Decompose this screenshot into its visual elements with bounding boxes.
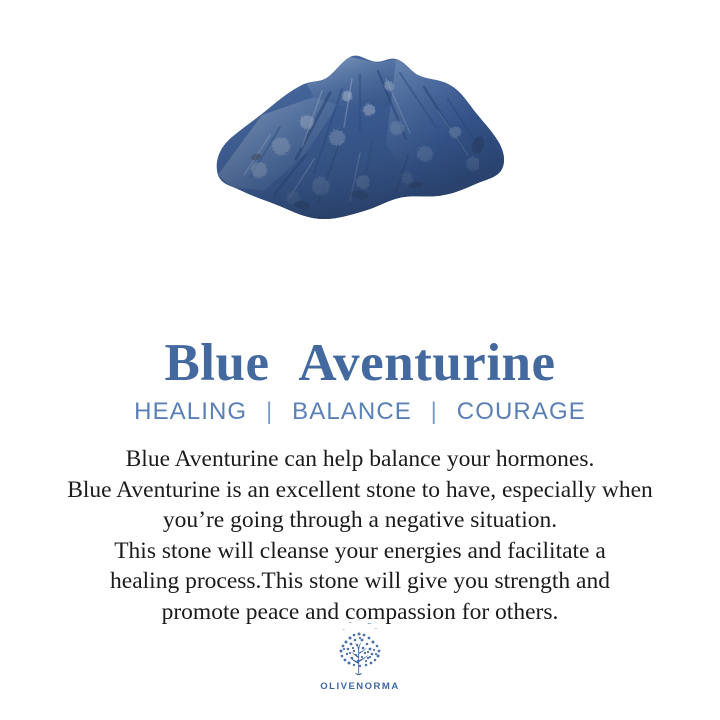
description-line: This stone will cleanse your energies an… xyxy=(18,536,702,567)
keyword-separator: | xyxy=(255,398,284,425)
product-info-card: Blue Aventurine HEALING | BALANCE | COUR… xyxy=(0,0,720,720)
tree-with-birds-icon xyxy=(324,618,396,680)
description-line: Blue Aventurine is an excellent stone to… xyxy=(18,475,702,506)
brand-name: OLIVENORMA xyxy=(320,681,399,692)
description-line: healing process.This stone will give you… xyxy=(18,566,702,597)
keyword-courage: COURAGE xyxy=(457,398,586,425)
stone-image-container xyxy=(0,0,720,270)
description-line: you’re going through a negative situatio… xyxy=(18,505,702,536)
keyword-healing: HEALING xyxy=(134,398,247,425)
keyword-separator: | xyxy=(420,398,449,425)
keyword-balance: BALANCE xyxy=(292,398,412,425)
description-line: Blue Aventurine can help balance your ho… xyxy=(18,444,702,475)
blue-aventurine-stone-image xyxy=(210,35,510,235)
keyword-list: HEALING | BALANCE | COURAGE xyxy=(0,397,720,427)
page-title: Blue Aventurine xyxy=(0,332,720,394)
description-text: Blue Aventurine can help balance your ho… xyxy=(18,444,702,627)
brand-logo: OLIVENORMA xyxy=(0,618,720,692)
